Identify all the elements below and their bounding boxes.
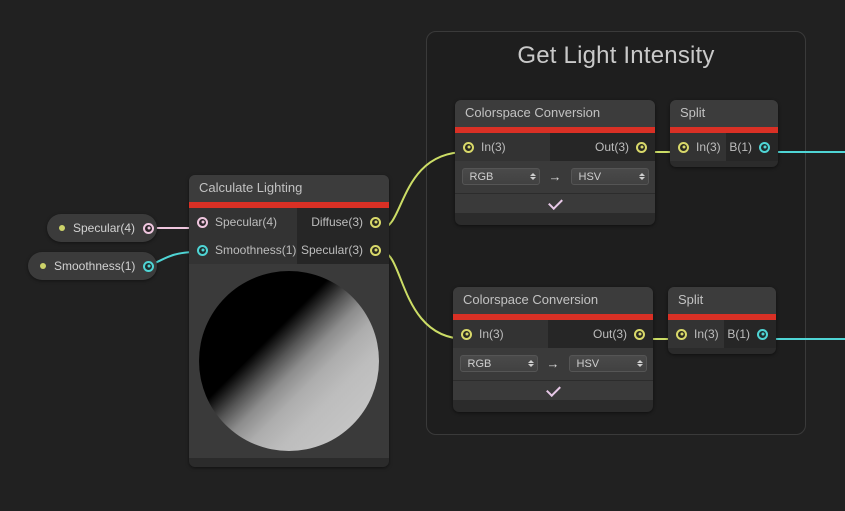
node-title: Colorspace Conversion: [453, 287, 653, 314]
property-label: Specular(4): [73, 221, 135, 235]
dropdown-to-colorspace[interactable]: HSV: [571, 168, 649, 185]
node-split-bottom[interactable]: Split In(3) B(1): [668, 287, 776, 354]
port-label: Diffuse(3): [311, 215, 363, 229]
port-dot-icon[interactable]: [461, 329, 472, 340]
colorspace-controls: RGB → HSV: [453, 348, 653, 380]
output-port-diffuse[interactable]: Diffuse(3): [297, 208, 389, 236]
node-title: Split: [668, 287, 776, 314]
node-split-top[interactable]: Split In(3) B(1): [670, 100, 778, 167]
input-port-in[interactable]: In(3): [670, 133, 726, 161]
port-label: Specular(3): [301, 243, 363, 257]
input-port-in[interactable]: In(3): [668, 320, 724, 348]
port-dot-icon[interactable]: [676, 329, 687, 340]
output-port-b[interactable]: B(1): [726, 133, 778, 161]
property-bullet-icon: [59, 225, 65, 231]
dropdown-from-colorspace[interactable]: RGB: [460, 355, 538, 372]
port-row: Specular(4) Diffuse(3): [189, 208, 389, 236]
port-label: B(1): [727, 327, 750, 341]
port-label: Specular(4): [215, 215, 277, 229]
port-label: In(3): [696, 140, 721, 154]
property-label: Smoothness(1): [54, 259, 135, 273]
stepper-icon[interactable]: [637, 360, 643, 367]
node-calculate-lighting[interactable]: Calculate Lighting Specular(4) Diffuse(3…: [189, 175, 389, 467]
output-port-specular[interactable]: Specular(3): [297, 236, 389, 264]
node-preview-sphere[interactable]: [189, 264, 389, 458]
arrow-right-icon: →: [547, 357, 560, 370]
input-port-smoothness[interactable]: Smoothness(1): [189, 236, 297, 264]
input-port-in[interactable]: In(3): [453, 320, 548, 348]
dropdown-value: RGB: [470, 171, 494, 183]
port-dot-icon[interactable]: [463, 142, 474, 153]
arrow-right-icon: →: [549, 170, 562, 183]
output-port-out[interactable]: Out(3): [548, 320, 653, 348]
port-label: In(3): [481, 140, 506, 154]
port-dot-icon[interactable]: [197, 217, 208, 228]
group-title: Get Light Intensity: [427, 42, 805, 70]
node-title: Calculate Lighting: [189, 175, 389, 202]
port-row: In(3) B(1): [670, 133, 778, 161]
node-title: Colorspace Conversion: [455, 100, 655, 127]
stepper-icon[interactable]: [528, 360, 534, 367]
port-label: In(3): [479, 327, 504, 341]
property-output-port[interactable]: [143, 261, 154, 272]
dropdown-value: RGB: [468, 358, 492, 370]
node-expander-toggle[interactable]: [453, 380, 653, 400]
node-graph-canvas[interactable]: Get Light Intensity Specular(4) Smoothne…: [0, 0, 845, 511]
node-colorspace-conversion-bottom[interactable]: Colorspace Conversion In(3) Out(3) RGB →…: [453, 287, 653, 412]
input-port-specular[interactable]: Specular(4): [189, 208, 297, 236]
node-colorspace-conversion-top[interactable]: Colorspace Conversion In(3) Out(3) RGB →…: [455, 100, 655, 225]
port-row: In(3) Out(3): [455, 133, 655, 161]
port-label: Out(3): [593, 327, 627, 341]
port-dot-icon[interactable]: [634, 329, 645, 340]
stepper-icon[interactable]: [639, 173, 645, 180]
port-dot-icon[interactable]: [636, 142, 647, 153]
property-node-specular[interactable]: Specular(4): [47, 214, 157, 242]
dropdown-to-colorspace[interactable]: HSV: [569, 355, 647, 372]
port-dot-icon[interactable]: [197, 245, 208, 256]
output-port-out[interactable]: Out(3): [550, 133, 655, 161]
port-dot-icon[interactable]: [757, 329, 768, 340]
node-expander-toggle[interactable]: [455, 193, 655, 213]
input-port-in[interactable]: In(3): [455, 133, 550, 161]
stepper-icon[interactable]: [530, 173, 536, 180]
port-label: B(1): [729, 140, 752, 154]
node-title: Split: [670, 100, 778, 127]
shaded-sphere-icon: [199, 271, 379, 451]
port-dot-icon[interactable]: [370, 217, 381, 228]
port-dot-icon[interactable]: [370, 245, 381, 256]
output-port-b[interactable]: B(1): [724, 320, 776, 348]
port-row: In(3) B(1): [668, 320, 776, 348]
port-label: Out(3): [595, 140, 629, 154]
port-label: In(3): [694, 327, 719, 341]
chevron-down-icon: [548, 195, 563, 210]
property-node-smoothness[interactable]: Smoothness(1): [28, 252, 157, 280]
dropdown-from-colorspace[interactable]: RGB: [462, 168, 540, 185]
port-row: Smoothness(1) Specular(3): [189, 236, 389, 264]
port-label: Smoothness(1): [215, 243, 296, 257]
dropdown-value: HSV: [577, 358, 600, 370]
dropdown-value: HSV: [579, 171, 602, 183]
port-row: In(3) Out(3): [453, 320, 653, 348]
property-bullet-icon: [40, 263, 46, 269]
colorspace-controls: RGB → HSV: [455, 161, 655, 193]
chevron-down-icon: [546, 382, 561, 397]
port-dot-icon[interactable]: [759, 142, 770, 153]
port-dot-icon[interactable]: [678, 142, 689, 153]
property-output-port[interactable]: [143, 223, 154, 234]
